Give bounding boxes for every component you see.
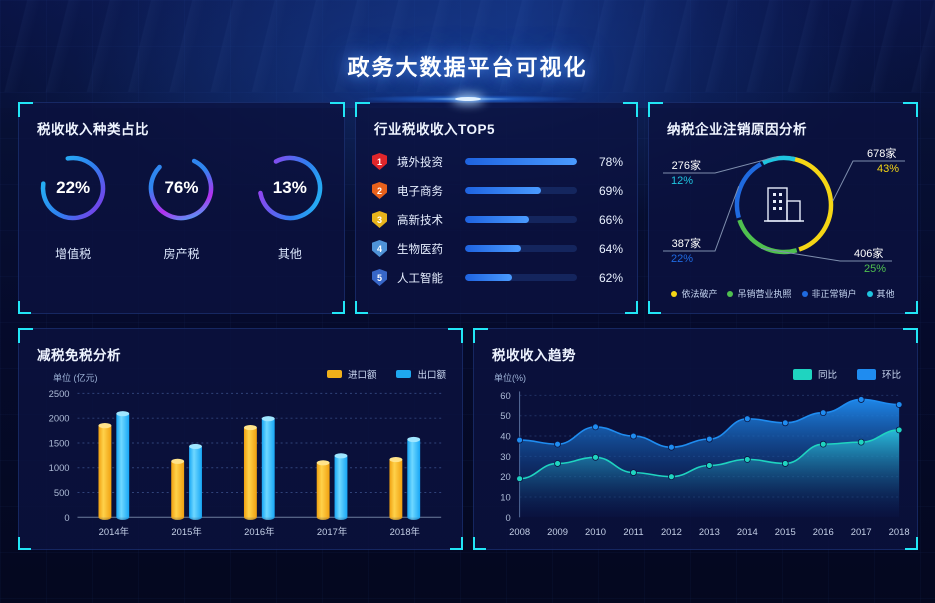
top5-bar-fill — [465, 245, 521, 252]
svg-text:2014: 2014 — [737, 526, 758, 537]
svg-text:0: 0 — [64, 512, 69, 523]
rank-badge-icon: 1 — [372, 153, 387, 170]
donut-ring: 76% — [144, 151, 218, 225]
svg-text:500: 500 — [54, 487, 70, 498]
svg-text:2015年: 2015年 — [171, 526, 201, 537]
svg-text:50: 50 — [500, 410, 510, 421]
top5-percent-value: 78% — [589, 155, 623, 169]
legend-dot-icon — [802, 291, 808, 297]
svg-text:406家: 406家 — [854, 246, 883, 260]
corner-decoration-br — [905, 301, 918, 314]
legend-item[interactable]: 其他 — [867, 287, 895, 300]
panel-title-tax-share: 税收收入种类占比 — [37, 118, 149, 138]
svg-text:2010: 2010 — [585, 526, 606, 537]
top5-industry-label: 高新技术 — [397, 212, 461, 228]
svg-text:2014年: 2014年 — [99, 526, 129, 537]
legend-dot-icon — [727, 291, 733, 297]
svg-text:387家: 387家 — [672, 236, 701, 250]
donut-value: 13% — [253, 151, 327, 225]
legend-label: 依法破产 — [681, 287, 717, 300]
svg-text:678家: 678家 — [867, 146, 896, 160]
svg-text:2012: 2012 — [661, 526, 682, 537]
legend-dot-icon — [671, 291, 677, 297]
svg-text:2013: 2013 — [699, 526, 720, 537]
svg-text:2017: 2017 — [851, 526, 872, 537]
header-glow-core — [455, 97, 481, 101]
legend-label: 吊销营业执照 — [737, 287, 791, 300]
svg-text:1000: 1000 — [49, 462, 70, 473]
donut-value: 76% — [144, 151, 218, 225]
tax-share-donut-item: 22%增值税 — [19, 151, 127, 262]
svg-text:1500: 1500 — [49, 437, 70, 448]
legend-item[interactable]: 吊销营业执照 — [727, 287, 791, 300]
page-title: 政务大数据平台可视化 — [0, 50, 935, 82]
donut-label: 增值税 — [55, 245, 91, 262]
top5-bar-track — [465, 187, 577, 194]
top5-industry-label: 生物医药 — [397, 241, 461, 257]
top5-percent-value: 69% — [589, 184, 623, 198]
svg-text:22%: 22% — [671, 253, 693, 265]
svg-text:40: 40 — [500, 430, 510, 441]
svg-text:2008: 2008 — [509, 526, 530, 537]
svg-text:2015: 2015 — [775, 526, 796, 537]
top5-bar-track — [465, 274, 577, 281]
corner-decoration-bl — [18, 301, 31, 314]
top5-row[interactable]: 2电子商务69% — [372, 176, 623, 205]
top5-row[interactable]: 3高新技术66% — [372, 205, 623, 234]
top5-industry-label: 人工智能 — [397, 270, 461, 286]
top5-row[interactable]: 1境外投资78% — [372, 147, 623, 176]
top5-percent-value: 66% — [589, 213, 623, 227]
top5-bar-track — [465, 245, 577, 252]
top5-bar-fill — [465, 274, 512, 281]
legend-dot-icon — [867, 291, 873, 297]
panel-tax-income-trend: 税收收入趋势 单位(%) 同比环比 0102030405060200820092… — [473, 328, 918, 550]
rank-badge-icon: 5 — [372, 269, 387, 286]
rank-badge-icon: 4 — [372, 240, 387, 257]
trend-area-chart: 0102030405060200820092010201120122013201… — [474, 329, 917, 549]
top5-row[interactable]: 5人工智能62% — [372, 263, 623, 292]
svg-text:2018: 2018 — [889, 526, 910, 537]
donut-value: 22% — [36, 151, 110, 225]
svg-text:12%: 12% — [671, 175, 693, 187]
svg-text:2000: 2000 — [49, 413, 70, 424]
svg-text:20: 20 — [500, 471, 510, 482]
cancellation-legend: 依法破产吊销营业执照非正常销户其他 — [649, 287, 917, 300]
top5-industry-label: 境外投资 — [397, 154, 461, 170]
svg-text:2011: 2011 — [623, 526, 643, 537]
top5-percent-value: 64% — [589, 242, 623, 256]
svg-text:2009: 2009 — [547, 526, 568, 537]
svg-text:43%: 43% — [877, 163, 899, 175]
top5-row[interactable]: 4生物医药64% — [372, 234, 623, 263]
top5-bar-track — [465, 158, 577, 165]
top5-industry-label: 电子商务 — [397, 183, 461, 199]
corner-decoration-bl — [648, 301, 661, 314]
header: 政务大数据平台可视化 — [0, 0, 935, 100]
donut-ring: 13% — [253, 151, 327, 225]
corner-decoration-br — [332, 301, 345, 314]
svg-text:2018年: 2018年 — [390, 526, 420, 537]
donut-label: 其他 — [278, 245, 302, 262]
top5-bar-fill — [465, 216, 529, 223]
tax-share-donut-item: 13%其他 — [236, 151, 344, 262]
panel-title-top5: 行业税收收入TOP5 — [374, 118, 495, 138]
corner-decoration-br — [625, 301, 638, 314]
top5-bar-fill — [465, 187, 541, 194]
svg-text:0: 0 — [505, 512, 510, 523]
svg-text:2017年: 2017年 — [317, 526, 347, 537]
reduction-bar-chart: 050010001500200025002014年2015年2016年2017年… — [19, 329, 462, 549]
svg-text:25%: 25% — [864, 263, 886, 275]
corner-decoration-bl — [355, 301, 368, 314]
svg-text:276家: 276家 — [672, 158, 701, 172]
top5-list: 1境外投资78%2电子商务69%3高新技术66%4生物医药64%5人工智能62% — [372, 147, 623, 292]
legend-item[interactable]: 依法破产 — [671, 287, 717, 300]
tax-share-donut-item: 76%房产税 — [127, 151, 235, 262]
legend-label: 其他 — [877, 287, 895, 300]
svg-text:10: 10 — [500, 491, 510, 502]
cancellation-donut-chart: 678家43%406家25%387家22%276家12% — [649, 135, 917, 277]
donut-ring: 22% — [36, 151, 110, 225]
panel-tax-share: 税收收入种类占比 22%增值税76%房产税13%其他 — [18, 102, 345, 314]
svg-text:2016: 2016 — [813, 526, 834, 537]
legend-label: 非正常销户 — [812, 287, 857, 300]
panel-tax-reduction-analysis: 减税免税分析 单位 (亿元) 进口额出口额 050010001500200025… — [18, 328, 463, 550]
rank-badge-icon: 2 — [372, 182, 387, 199]
panel-cancellation-reasons: 纳税企业注销原因分析 678家43%406家25%387家22%276家12% … — [648, 102, 918, 314]
svg-text:2016年: 2016年 — [244, 526, 274, 537]
svg-text:30: 30 — [500, 451, 510, 462]
rank-badge-icon: 3 — [372, 211, 387, 228]
legend-item[interactable]: 非正常销户 — [802, 287, 857, 300]
panel-industry-top5: 行业税收收入TOP5 1境外投资78%2电子商务69%3高新技术66%4生物医药… — [355, 102, 638, 314]
svg-text:2500: 2500 — [49, 388, 70, 399]
tax-share-donut-row: 22%增值税76%房产税13%其他 — [19, 151, 344, 262]
donut-label: 房产税 — [163, 245, 199, 262]
top5-bar-fill — [465, 158, 577, 165]
svg-text:60: 60 — [500, 390, 510, 401]
top5-percent-value: 62% — [589, 271, 623, 285]
top5-bar-track — [465, 216, 577, 223]
